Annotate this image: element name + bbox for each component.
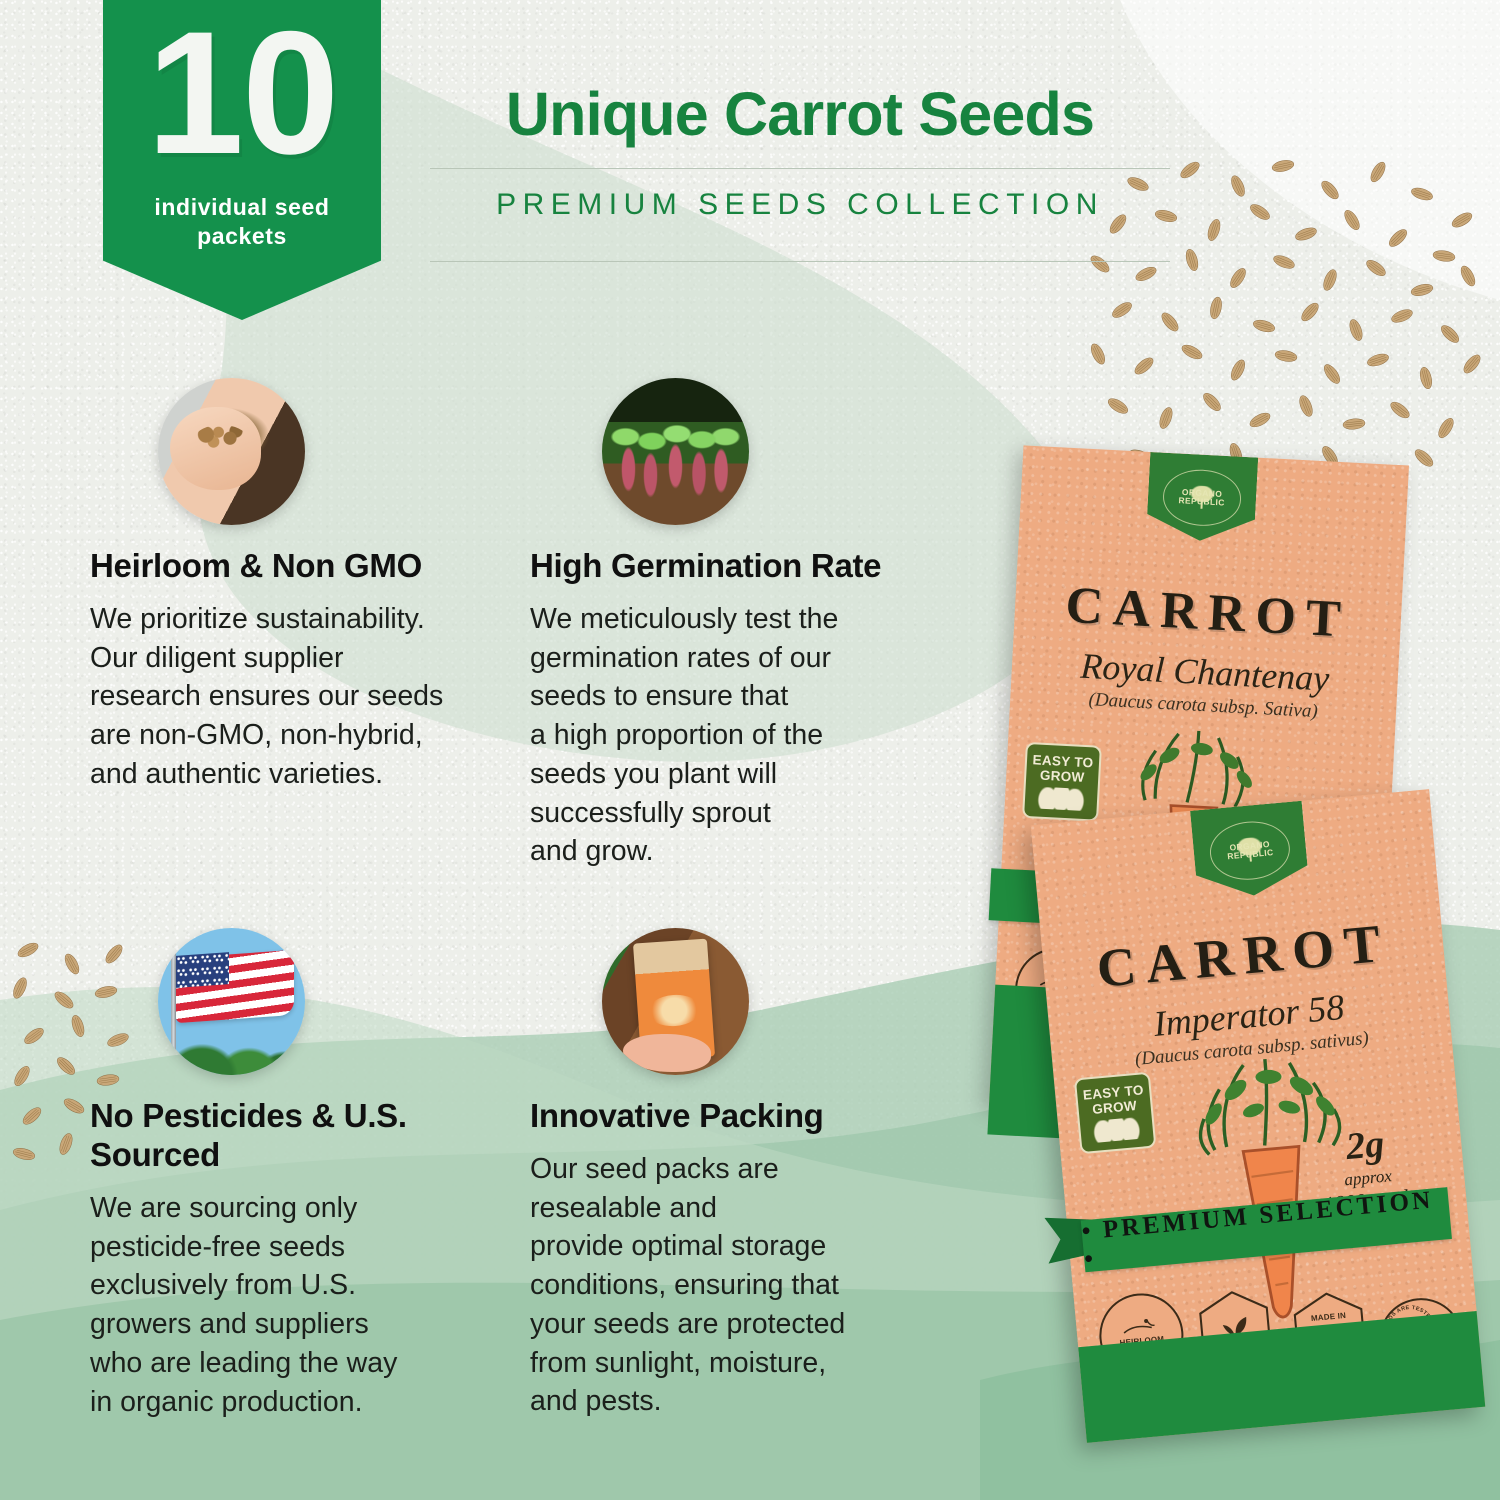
feature-body: Our seed packs are resealable and provid… xyxy=(530,1150,930,1421)
header-block: Unique Carrot Seeds PREMIUM SEEDS COLLEC… xyxy=(420,82,1180,262)
feature-no-pesticides-us-sourced: No Pesticides & U.S. Sourced We are sour… xyxy=(90,928,500,1421)
seed-packet-count-badge: 10 individual seed packets xyxy=(103,0,381,320)
header-divider-bottom xyxy=(430,261,1170,262)
feature-title: Heirloom & Non GMO xyxy=(90,547,490,586)
leaves-icon xyxy=(1092,1117,1142,1143)
seedlings-sprouting-icon xyxy=(602,378,749,525)
packet-count-number: 10 xyxy=(147,6,338,181)
feature-innovative-packing: Innovative Packing Our seed packs are re… xyxy=(530,928,930,1421)
packet-count-caption: individual seed packets xyxy=(137,193,347,252)
feature-body: We meticulously test the germination rat… xyxy=(530,600,930,871)
page-title: Unique Carrot Seeds xyxy=(420,82,1180,146)
feature-body: We are sourcing only pesticide-free seed… xyxy=(90,1189,500,1422)
feature-body: We prioritize sustainability. Our dilige… xyxy=(90,600,490,794)
header-subtitle: PREMIUM SEEDS COLLECTION xyxy=(420,169,1180,239)
hand-holding-seeds-icon xyxy=(158,378,305,525)
feature-title: Innovative Packing xyxy=(530,1097,930,1136)
brand-logo-text: ORGANO REPUBLIC xyxy=(1166,487,1238,508)
brand-logo-text: ORGANO REPUBLIC xyxy=(1212,839,1287,863)
us-flag-icon xyxy=(158,928,305,1075)
feature-title: High Germination Rate xyxy=(530,547,930,586)
feature-high-germination-rate: High Germination Rate We meticulously te… xyxy=(530,378,930,871)
seed-pouch-icon xyxy=(602,928,749,1075)
leaves-icon xyxy=(1037,787,1086,811)
infographic-canvas: 10 individual seed packets Unique Carrot… xyxy=(0,0,1500,1500)
feature-title: No Pesticides & U.S. Sourced xyxy=(90,1097,500,1175)
seed-packet-imperator-58: ORGANO REPUBLIC CARROT Imperator 58 (Dau… xyxy=(1031,789,1486,1443)
feature-heirloom-non-gmo: Heirloom & Non GMO We prioritize sustain… xyxy=(90,378,490,794)
